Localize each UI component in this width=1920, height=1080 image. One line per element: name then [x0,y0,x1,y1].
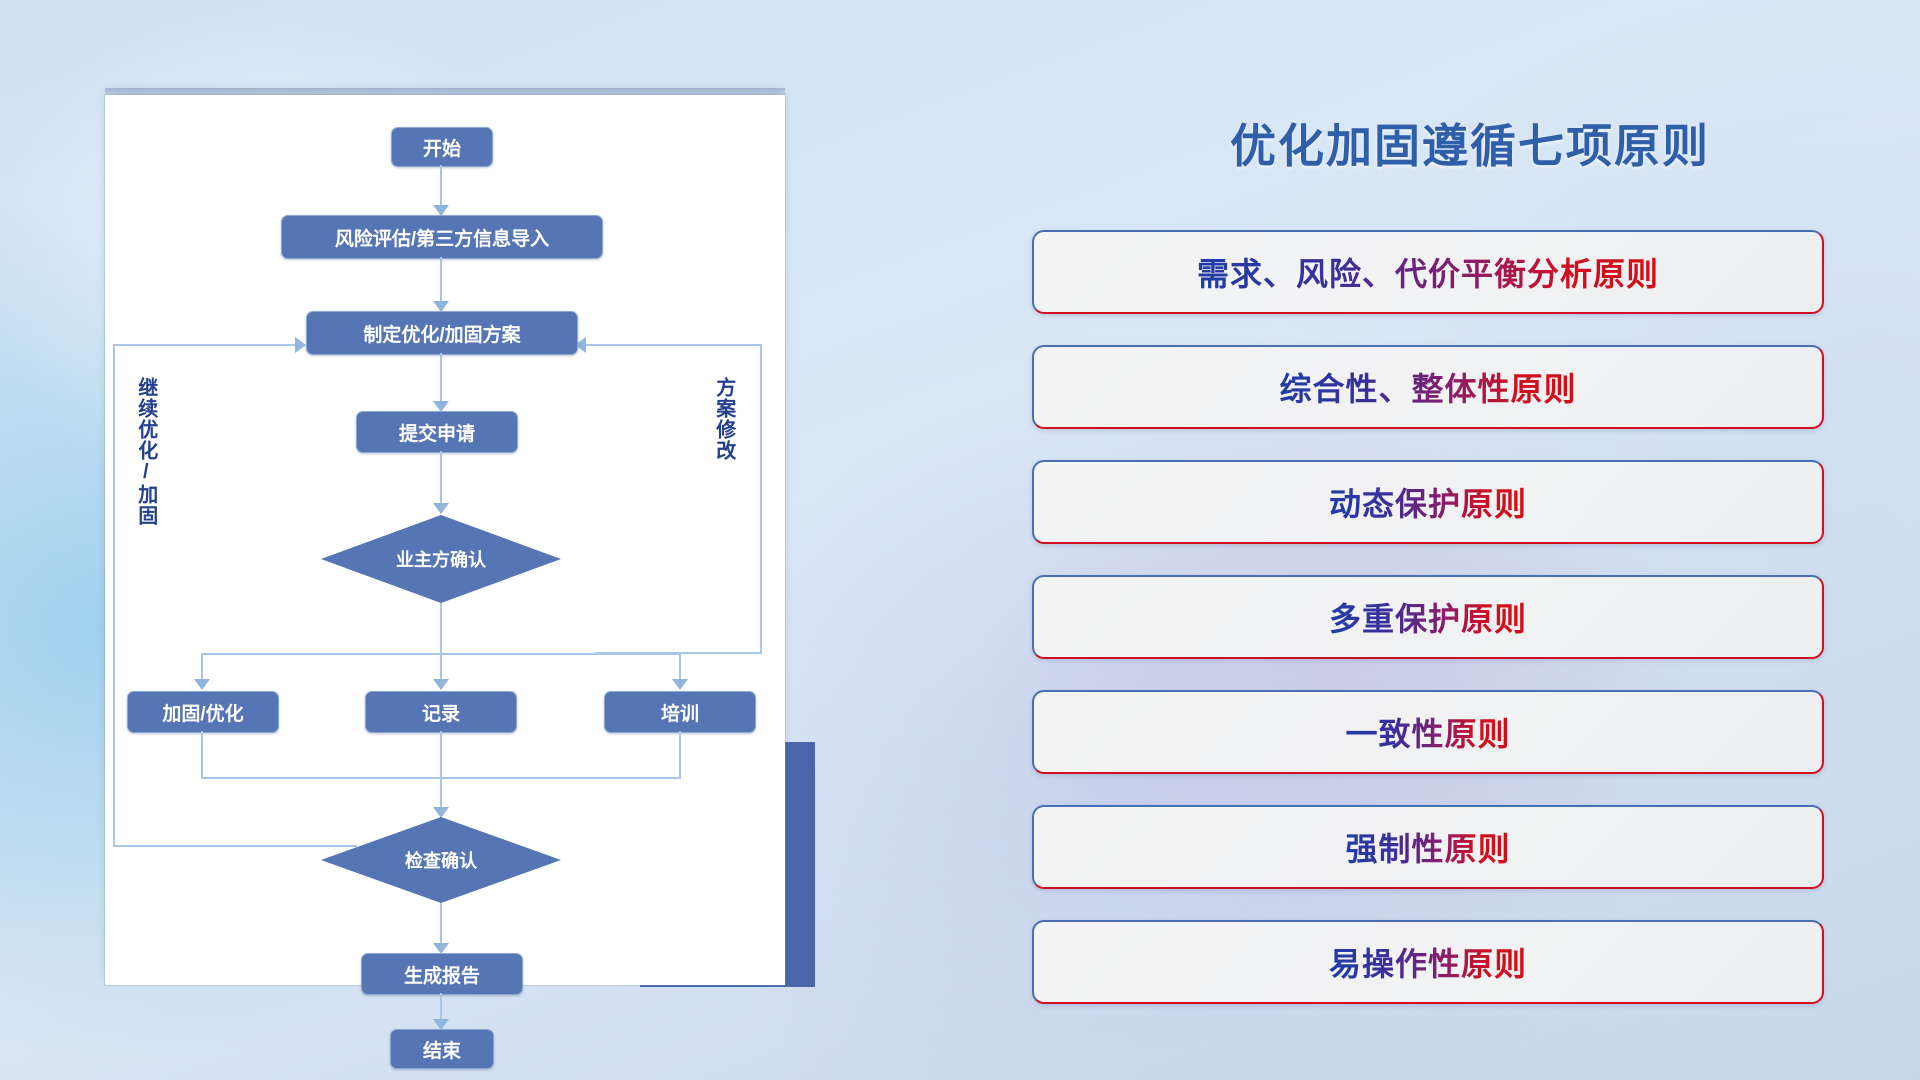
edge-merge-to-check-arrow [433,807,449,818]
principle-item-5[interactable]: 一致性原则 [1032,690,1824,774]
flow-node-risk-assessment[interactable]: 风险评估/第三方信息导入 [281,215,603,259]
principle-item-6[interactable]: 强制性原则 [1032,805,1824,889]
principles-list: 需求、风险、代价平衡分析原则 综合性、整体性原则 动态保护原则 多重保护原则 一… [1032,230,1824,1035]
loop-left-arrowhead [295,337,306,353]
loop-left-bottom-rail [113,845,357,847]
edge-label-plan-revision: 方案修改 [713,377,734,461]
loop-left-top-rail [113,344,299,346]
flow-node-check-confirm[interactable]: 检查确认 [321,817,561,903]
flow-node-make-plan[interactable]: 制定优化/加固方案 [306,311,578,355]
branch-mid-arrow [433,679,449,690]
principles-title: 优化加固遵循七项原则 [1020,110,1920,176]
merge-left-rise [201,731,203,779]
principle-label: 综合性、整体性原则 [1279,364,1576,410]
loop-right-top-rail [585,344,762,346]
principle-item-1[interactable]: 需求、风险、代价平衡分析原则 [1032,230,1824,314]
principle-label: 一致性原则 [1345,709,1510,755]
flowchart-card: 继续优化/加固 方案修改 开始 风险评估/第三方信息导入 制定优化/加固方案 提… [105,95,785,985]
principle-item-4[interactable]: 多重保护原则 [1032,575,1824,659]
principle-item-2[interactable]: 综合性、整体性原则 [1032,345,1824,429]
flow-node-record[interactable]: 记录 [365,691,517,733]
merge-mid-rise [440,731,442,779]
principle-label: 多重保护原则 [1329,594,1527,640]
edge-submit-to-owner-arrow [433,503,449,514]
branch-right-arrow [672,679,688,690]
principle-label: 需求、风险、代价平衡分析原则 [1197,249,1659,295]
principle-item-7[interactable]: 易操作性原则 [1032,920,1824,1004]
flow-node-start[interactable]: 开始 [391,127,493,167]
edge-submit-to-owner [440,451,442,511]
flow-node-reinforce-optimize[interactable]: 加固/优化 [127,691,279,733]
merge-right-rise [679,731,681,779]
edge-label-continue-optimize: 继续优化/加固 [135,377,156,526]
principle-item-3[interactable]: 动态保护原则 [1032,460,1824,544]
flow-node-generate-report[interactable]: 生成报告 [361,953,523,995]
edge-owner-to-branch [440,603,442,655]
branch-left-arrow [194,679,210,690]
flow-node-submit-application[interactable]: 提交申请 [356,411,518,453]
principle-label: 动态保护原则 [1329,479,1527,525]
flowchart-canvas: 继续优化/加固 方案修改 开始 风险评估/第三方信息导入 制定优化/加固方案 提… [105,95,785,985]
principles-panel: 优化加固遵循七项原则 需求、风险、代价平衡分析原则 综合性、整体性原则 动态保护… [1020,0,1920,1080]
loop-left-vertical-rail [113,344,115,847]
flow-node-end[interactable]: 结束 [390,1029,494,1069]
flow-node-owner-confirm[interactable]: 业主方确认 [321,515,561,603]
loop-right-vertical-rail [760,344,762,654]
principle-label: 强制性原则 [1345,824,1510,870]
flow-node-training[interactable]: 培训 [604,691,756,733]
principle-label: 易操作性原则 [1329,939,1527,985]
